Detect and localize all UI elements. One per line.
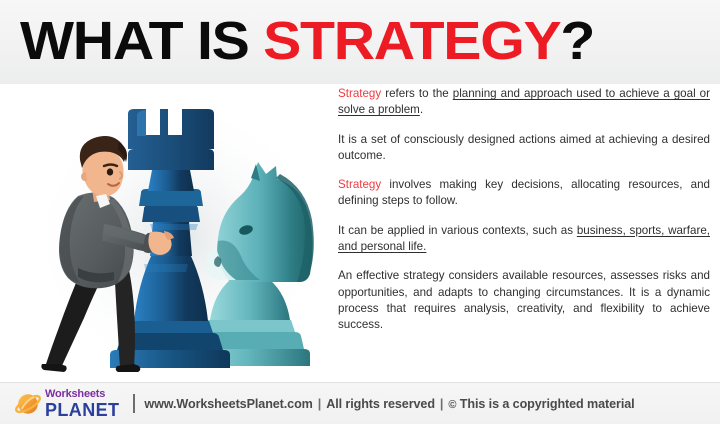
- logo-bottom-word: PLANET: [45, 401, 119, 419]
- paragraph-2: It is a set of consciously designed acti…: [338, 132, 710, 165]
- paragraph-5-text: An effective strategy considers availabl…: [338, 269, 710, 331]
- paragraph-4-text: It can be applied in various contexts, s…: [338, 224, 577, 237]
- footer-bar-1: |: [313, 397, 326, 411]
- logo-top-word: Worksheets: [45, 389, 119, 400]
- footer-website[interactable]: www.WorksheetsPlanet.com: [144, 397, 312, 411]
- keyword-strategy-1: Strategy: [338, 87, 381, 100]
- paragraph-1: Strategy refers to the planning and appr…: [338, 86, 710, 119]
- footer-bar-2: |: [435, 397, 448, 411]
- definition-text-column: Strategy refers to the planning and appr…: [338, 86, 710, 376]
- title-question-mark: ?: [560, 11, 594, 71]
- paragraph-3: Strategy involves making key decisions, …: [338, 177, 710, 210]
- footer-credits: www.WorksheetsPlanet.com|All rights rese…: [144, 397, 634, 411]
- footer-bar: Worksheets PLANET www.WorksheetsPlanet.c…: [0, 383, 720, 424]
- paragraph-5: An effective strategy considers availabl…: [338, 268, 710, 333]
- paragraph-1-text-a: refers to the: [381, 87, 453, 100]
- paragraph-1-text-b: .: [420, 103, 423, 116]
- paragraph-3-text: involves making key decisions, allocatin…: [338, 178, 710, 207]
- footer-copyright-text: This is a copyrighted material: [460, 397, 635, 411]
- footer-rights: All rights reserved: [326, 397, 435, 411]
- logo-wordmark: Worksheets PLANET: [45, 389, 119, 419]
- footer-separator-line: [133, 394, 135, 413]
- poster-page: WHAT IS STRATEGY?: [0, 0, 720, 424]
- title-red-text: STRATEGY: [263, 11, 560, 71]
- title-black-text: WHAT IS: [20, 11, 263, 71]
- copyright-icon: ©: [448, 399, 456, 411]
- paragraph-4: It can be applied in various contexts, s…: [338, 223, 710, 256]
- paragraph-2-text: It is a set of consciously designed acti…: [338, 133, 710, 162]
- chess-illustration: [18, 78, 330, 378]
- keyword-strategy-2: Strategy: [338, 178, 381, 191]
- planet-icon: [14, 390, 42, 418]
- page-title: WHAT IS STRATEGY?: [20, 11, 720, 71]
- worksheets-planet-logo[interactable]: Worksheets PLANET: [14, 389, 119, 419]
